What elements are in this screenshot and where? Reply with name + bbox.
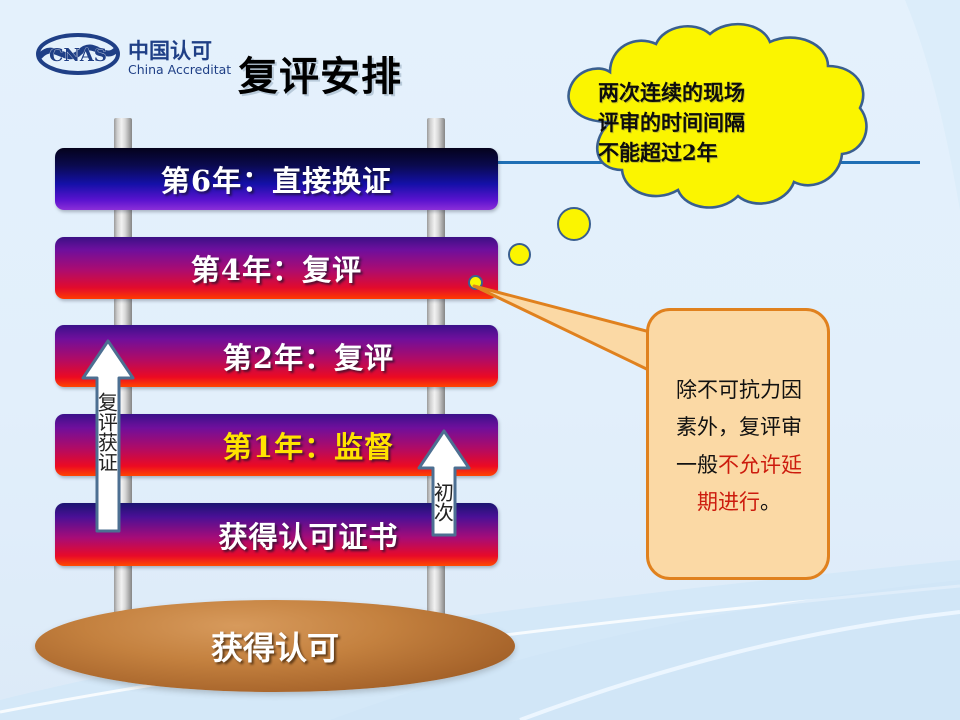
note-line-4: 期进行。 xyxy=(654,484,824,521)
logo-chinese-name: 中国认可 xyxy=(128,39,212,63)
note-callout-text: 除不可抗力因 素外，复评审 一般不允许延 期进行。 xyxy=(654,372,824,522)
up-arrow-initial-label: 初次 xyxy=(416,482,468,527)
cnas-logo: CNAS 中国认可 China Accreditation xyxy=(36,32,232,82)
slide-canvas: CNAS 中国认可 China Accreditation 复评安排 获得认可 … xyxy=(0,0,960,720)
ladder-rung-year6: 第6年：直接换证 xyxy=(55,148,498,210)
note-line-4-highlight: 期进行 xyxy=(697,490,760,514)
base-label: 获得认可 xyxy=(35,623,515,669)
cloud-line-1: 两次连续的现场 xyxy=(598,78,828,108)
note-line-1: 除不可抗力因 xyxy=(654,372,824,409)
logo-mark-icon: CNAS xyxy=(38,35,118,73)
svg-text:CNAS: CNAS xyxy=(49,45,107,66)
up-arrow-reassessment-label: 复评获证 xyxy=(80,392,132,477)
page-title: 复评安排 xyxy=(238,44,458,102)
thought-cloud-text: 两次连续的现场 评审的时间间隔 不能超过2年 xyxy=(598,78,828,167)
thought-bubble-large xyxy=(557,207,591,241)
logo-english-name: China Accreditation xyxy=(128,62,232,77)
thought-bubble-medium xyxy=(508,243,531,266)
note-line-3-highlight: 不允许延 xyxy=(718,453,802,477)
note-line-3: 一般不允许延 xyxy=(654,447,824,484)
accreditation-base-ellipse: 获得认可 xyxy=(35,600,515,692)
cloud-line-2: 评审的时间间隔 xyxy=(598,108,828,138)
cloud-line-3: 不能超过2年 xyxy=(598,138,828,168)
note-line-4-tail: 。 xyxy=(760,490,781,514)
ladder-rung-label: 第6年：直接换证 xyxy=(55,158,498,200)
note-line-2: 素外，复评审 xyxy=(654,409,824,446)
note-line-3-plain: 一般 xyxy=(676,453,718,477)
ladder-rung-year4: 第4年：复评 xyxy=(55,237,498,299)
ladder-rung-label: 第4年：复评 xyxy=(55,247,498,289)
